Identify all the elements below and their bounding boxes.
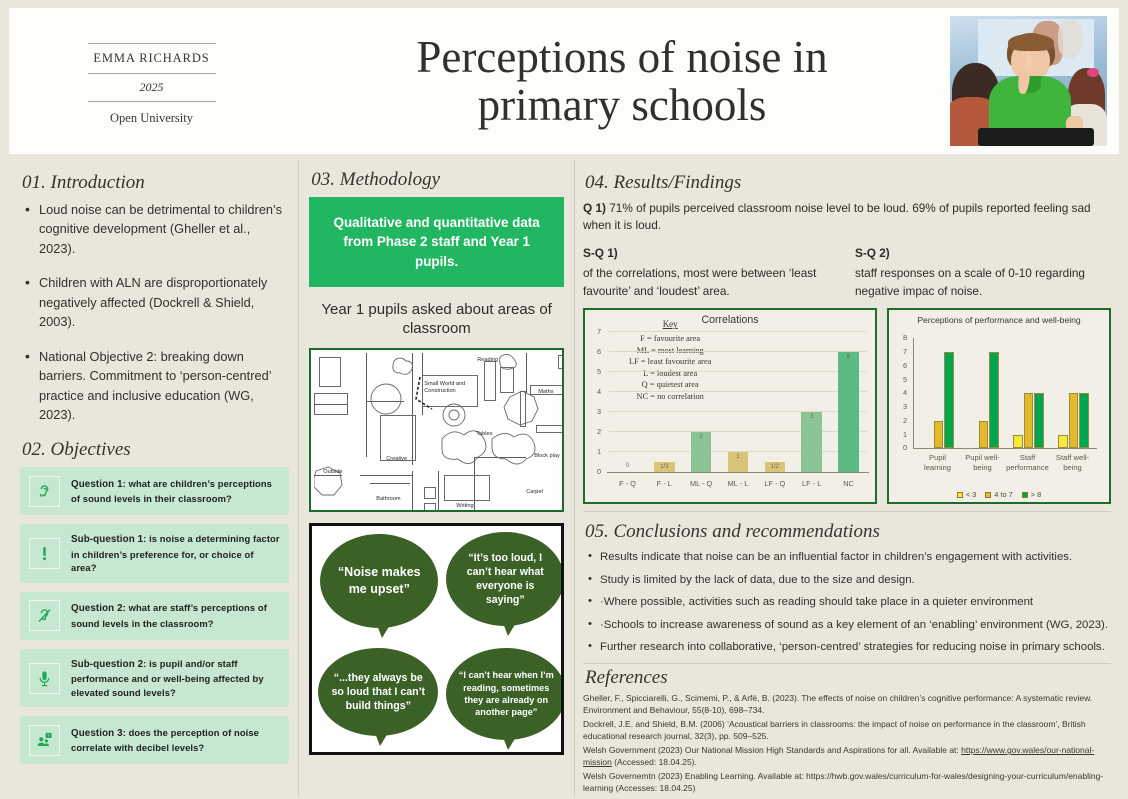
bar (1069, 393, 1079, 448)
objective-card-text: Question 1: what are children’s percepti… (71, 477, 280, 506)
gridline (609, 391, 867, 392)
sq2-title: S-Q 2) (855, 245, 1111, 263)
bar (1079, 393, 1089, 448)
bar (1034, 393, 1044, 448)
x-tick-label: Staff performance (1005, 453, 1050, 472)
gridline (609, 371, 867, 372)
y-tick-label: 1 (903, 430, 907, 439)
bar: 1/2 (765, 462, 786, 472)
list-item: Children with ALN are disproportionately… (20, 273, 289, 331)
column-left: 01. Introduction Loud noise can be detri… (9, 160, 298, 797)
microphone-icon (29, 663, 60, 694)
bar-value-label: 1/2 (765, 464, 786, 470)
reference-item: Gheller, F., Spicciarelli, G., Scimemi, … (583, 692, 1111, 716)
author-name: EMMA RICHARDS (88, 44, 216, 73)
x-tick-label: Pupil learning (915, 453, 960, 472)
poster-header: EMMA RICHARDS 2025 Open University Perce… (9, 8, 1119, 154)
legend-swatch (985, 492, 991, 498)
chart-perceptions: Perceptions of performance and well-bein… (887, 308, 1111, 504)
bar (934, 421, 944, 449)
chart2-plot (915, 338, 1095, 448)
bar (1024, 393, 1034, 448)
results-q1-paragraph: Q 1) 71% of pupils perceived classroom n… (583, 200, 1111, 234)
chart2-legend: < 34 to 7> 8 (889, 490, 1109, 499)
y-tick-label: 5 (597, 367, 601, 376)
bar (944, 352, 954, 448)
legend-label: > 8 (1031, 490, 1041, 499)
conclusions-bullets: Results indicate that noise can be an in… (583, 549, 1111, 656)
y-tick-label: 6 (597, 347, 601, 356)
objective-card-text: Question 3: does the perception of noise… (71, 726, 280, 755)
bar-value-label: 0 (617, 463, 638, 469)
floorplan-label-small-world-construction: Small World and Construction (424, 381, 470, 395)
floorplan-label-writing: Writing (456, 503, 473, 509)
quote-bubble: “I can’t hear when I’m reading, sometime… (446, 648, 564, 740)
reference-link[interactable]: https://www.gov.wales/our-national-missi… (583, 745, 1094, 767)
objective-label: Sub-question 1 (71, 534, 143, 545)
introduction-bullets: Loud noise can be detrimental to childre… (20, 200, 289, 424)
y-tick-label: 2 (597, 427, 601, 436)
x-tick-label: Staff well-being (1050, 453, 1095, 472)
floorplan-label-outside: Outside (323, 469, 342, 475)
bar: 1 (728, 452, 749, 472)
results-q1-text: 71% of pupils perceived classroom noise … (583, 201, 1091, 232)
gridline (609, 411, 867, 412)
legend-label: < 3 (966, 490, 976, 499)
y-tick-label: 5 (903, 375, 907, 384)
y-tick-label: 8 (903, 333, 907, 342)
y-tick-label: 0 (597, 467, 601, 476)
gridline (609, 351, 867, 352)
header-photo-shushing-child (950, 16, 1107, 146)
floorplan-label-bathroom: Bathroom (376, 496, 400, 502)
chart2-title: Perceptions of performance and well-bein… (889, 310, 1109, 325)
y-tick-label: 6 (903, 361, 907, 370)
x-tick-label: LF - Q (756, 479, 793, 488)
x-tick-label: NC (830, 479, 867, 488)
methodology-banner: Qualitative and quantitative data from P… (309, 197, 564, 287)
section-heading-references: References (585, 667, 1111, 689)
floorplan-label-tables: Tables (476, 431, 492, 437)
bar-value-label: 2 (691, 434, 712, 440)
page-title: Perceptions of noise in primary schools (416, 33, 827, 129)
methodology-caption: Year 1 pupils asked about areas of class… (309, 301, 564, 339)
bar-value-label: 1 (728, 454, 749, 460)
section-heading-introduction: 01. Introduction (22, 172, 289, 194)
section-heading-results: 04. Results/Findings (585, 172, 1111, 194)
objective-label: Question 1 (71, 479, 123, 490)
bar-value-label: 3 (801, 414, 822, 420)
title-line-2: primary schools (478, 80, 767, 130)
sq1-text: of the correlations, most were between ‘… (583, 266, 816, 298)
exclamation-icon (29, 538, 60, 569)
objective-card-question-3[interactable]: ? Question 3: does the perception of noi… (20, 716, 289, 764)
objective-label: Sub-question 2 (71, 659, 143, 670)
list-item: Study is limited by the lack of data, du… (583, 572, 1111, 589)
y-tick-label: 4 (903, 388, 907, 397)
ear-crossed-icon (29, 600, 60, 631)
column-right: 04. Results/Findings Q 1) 71% of pupils … (575, 160, 1119, 797)
x-tick-label: ML - L (720, 479, 757, 488)
legend-item: 4 to 7 (985, 490, 1013, 499)
charts-row: Correlations Key F = favourite area ML =… (583, 308, 1111, 504)
x-tick-label: F - L (646, 479, 683, 488)
list-item: Loud noise can be detrimental to childre… (20, 200, 289, 258)
legend-item: > 8 (1022, 490, 1041, 499)
floorplan-label-carpet: Carpet (526, 489, 543, 495)
objective-card-text: Sub-question 1: is noise a determining f… (71, 532, 280, 574)
chart-correlations: Correlations Key F = favourite area ML =… (583, 308, 877, 504)
reference-item: Dockrell, J.E. and Shield, B.M. (2006) ‘… (583, 718, 1111, 742)
section-heading-conclusions: 05. Conclusions and recommendations (585, 521, 1111, 543)
legend-swatch (1022, 492, 1028, 498)
y-tick-label: 2 (903, 416, 907, 425)
sub-question-2-block: S-Q 2) staff responses on a scale of 0-1… (855, 245, 1111, 300)
conclusions-section: 05. Conclusions and recommendations Resu… (583, 521, 1111, 656)
list-item: ·Where possible, activities such as read… (583, 594, 1111, 611)
x-tick-label: ML - Q (683, 479, 720, 488)
list-item: Results indicate that noise can be an in… (583, 549, 1111, 566)
chart1-plot: 01/3211/236 (609, 332, 867, 472)
title-block: Perceptions of noise in primary schools (294, 8, 950, 154)
legend-swatch (957, 492, 963, 498)
quote-bubble: “...they always be so loud that I can’t … (318, 648, 438, 736)
poster-columns: 01. Introduction Loud noise can be detri… (9, 160, 1119, 797)
axis-line (607, 472, 869, 473)
bar: 1/3 (654, 462, 675, 472)
bar (1058, 435, 1068, 449)
list-item: ·Schools to increase awareness of sound … (583, 617, 1111, 634)
bar: 3 (801, 412, 822, 472)
y-tick-label: 7 (903, 347, 907, 356)
chart1-key-title: Key (629, 318, 711, 330)
bar-value-label: 6 (838, 354, 859, 360)
author-year: 2025 (88, 74, 216, 101)
bar (989, 352, 999, 448)
objective-card-text: Question 2: what are staff’s perceptions… (71, 601, 280, 630)
bar: 2 (691, 432, 712, 472)
bar (1013, 435, 1023, 449)
x-tick-label: LF - L (793, 479, 830, 488)
poster-root: EMMA RICHARDS 2025 Open University Perce… (0, 0, 1128, 799)
y-tick-label: 3 (597, 407, 601, 416)
people-question-icon: ? (29, 725, 60, 756)
column-middle: 03. Methodology Qualitative and quantita… (298, 160, 575, 797)
list-item: Further research into collaborative, ‘pe… (583, 639, 1111, 656)
legend-label: 4 to 7 (994, 490, 1013, 499)
ear-icon (29, 476, 60, 507)
gridline (609, 331, 867, 332)
sub-question-row: S-Q 1) of the correlations, most were be… (583, 245, 1111, 300)
x-tick-label: Pupil well-being (960, 453, 1005, 472)
sq1-title: S-Q 1) (583, 245, 839, 263)
floorplan-label-block-play: Block play (534, 453, 560, 459)
section-heading-objectives: 02. Objectives (22, 439, 289, 461)
reference-item: Welsh Government (2023) Our National Mis… (583, 744, 1111, 768)
objective-card-text: Sub-question 2: is pupil and/or staff pe… (71, 657, 280, 699)
sub-question-1-block: S-Q 1) of the correlations, most were be… (583, 245, 839, 300)
section-heading-methodology: 03. Methodology (311, 169, 564, 191)
legend-item: < 3 (957, 490, 976, 499)
references-list: Gheller, F., Spicciarelli, G., Scimemi, … (583, 692, 1111, 795)
quote-bubble: “It’s too loud, I can’t hear what everyo… (446, 532, 564, 626)
objective-card-sub-question-1[interactable]: Sub-question 1: is noise a determining f… (20, 524, 289, 582)
floorplan-label-creative: Creative (386, 456, 407, 462)
bar-value-label: 1/3 (654, 464, 675, 470)
objective-card-question-1[interactable]: Question 1: what are children’s percepti… (20, 467, 289, 515)
y-tick-label: 7 (597, 327, 601, 336)
y-tick-label: 3 (903, 402, 907, 411)
objective-card-question-2[interactable]: Question 2: what are staff’s perceptions… (20, 592, 289, 640)
title-line-1: Perceptions of noise in (416, 32, 827, 82)
objective-card-sub-question-2[interactable]: Sub-question 2: is pupil and/or staff pe… (20, 649, 289, 707)
axis-line (913, 448, 1097, 449)
floorplan-label-reading: Reading (477, 357, 498, 363)
objective-label: Question 2 (71, 603, 123, 614)
reference-item: Welsh Governemtn (2023) Enabling Learnin… (583, 770, 1111, 794)
author-organisation: Open University (88, 102, 216, 126)
classroom-floorplan: Outside Creative Bathroom Writing Small … (309, 348, 564, 512)
sq2-text: staff responses on a scale of 0-10 regar… (855, 266, 1085, 298)
floorplan-label-maths: Maths (538, 389, 553, 395)
y-tick-label: 4 (597, 387, 601, 396)
axis-line (913, 338, 914, 448)
bar: 6 (838, 352, 859, 472)
quote-bubble: “Noise makes me upset” (320, 534, 438, 628)
x-tick-label: F - Q (609, 479, 646, 488)
results-q1-label: Q 1) (583, 201, 606, 215)
bar (979, 421, 989, 449)
y-tick-label: 0 (903, 443, 907, 452)
objective-label: Question 3 (71, 728, 123, 739)
author-block: EMMA RICHARDS 2025 Open University (9, 8, 294, 154)
references-section: References Gheller, F., Spicciarelli, G.… (583, 667, 1111, 795)
gridline (609, 431, 867, 432)
list-item: National Objective 2: breaking down barr… (20, 347, 289, 425)
y-tick-label: 1 (597, 447, 601, 456)
pupil-quotes-panel: “Noise makes me upset” “It’s too loud, I… (309, 523, 564, 755)
